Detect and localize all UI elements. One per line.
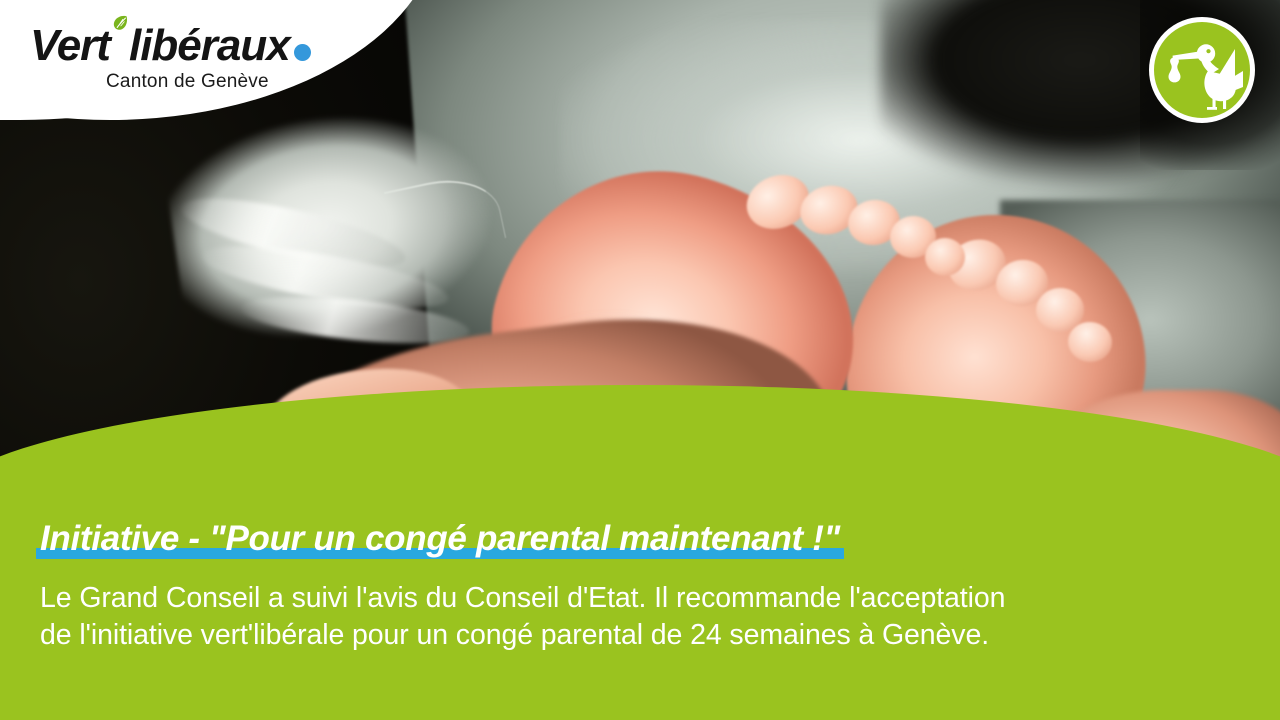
- blue-dot-icon: [294, 44, 311, 61]
- brand-logo[interactable]: Vertlibéraux Canton de Genève: [30, 24, 311, 93]
- body-line-2: de l'initiative vert'libérale pour un co…: [40, 617, 1240, 655]
- headline: Initiative - "Pour un congé parental mai…: [40, 517, 840, 561]
- body-text: Le Grand Conseil a suivi l'avis du Conse…: [40, 580, 1240, 655]
- leaf-icon: [112, 14, 128, 36]
- stork-badge[interactable]: [1149, 17, 1255, 123]
- brand-wordmark-post: libéraux: [129, 21, 290, 70]
- campaign-poster: Vertlibéraux Canton de Genève: [0, 0, 1280, 720]
- brand-subtitle: Canton de Genève: [30, 71, 311, 93]
- brand-wordmark: Vertlibéraux: [30, 24, 311, 69]
- body-line-1: Le Grand Conseil a suivi l'avis du Conse…: [40, 580, 1240, 618]
- stork-with-bundle-icon: [1159, 27, 1245, 113]
- banner-content: Initiative - "Pour un congé parental mai…: [0, 495, 1280, 720]
- headline-wrap: Initiative - "Pour un congé parental mai…: [40, 517, 840, 561]
- brand-wordmark-pre: Vert: [30, 21, 110, 70]
